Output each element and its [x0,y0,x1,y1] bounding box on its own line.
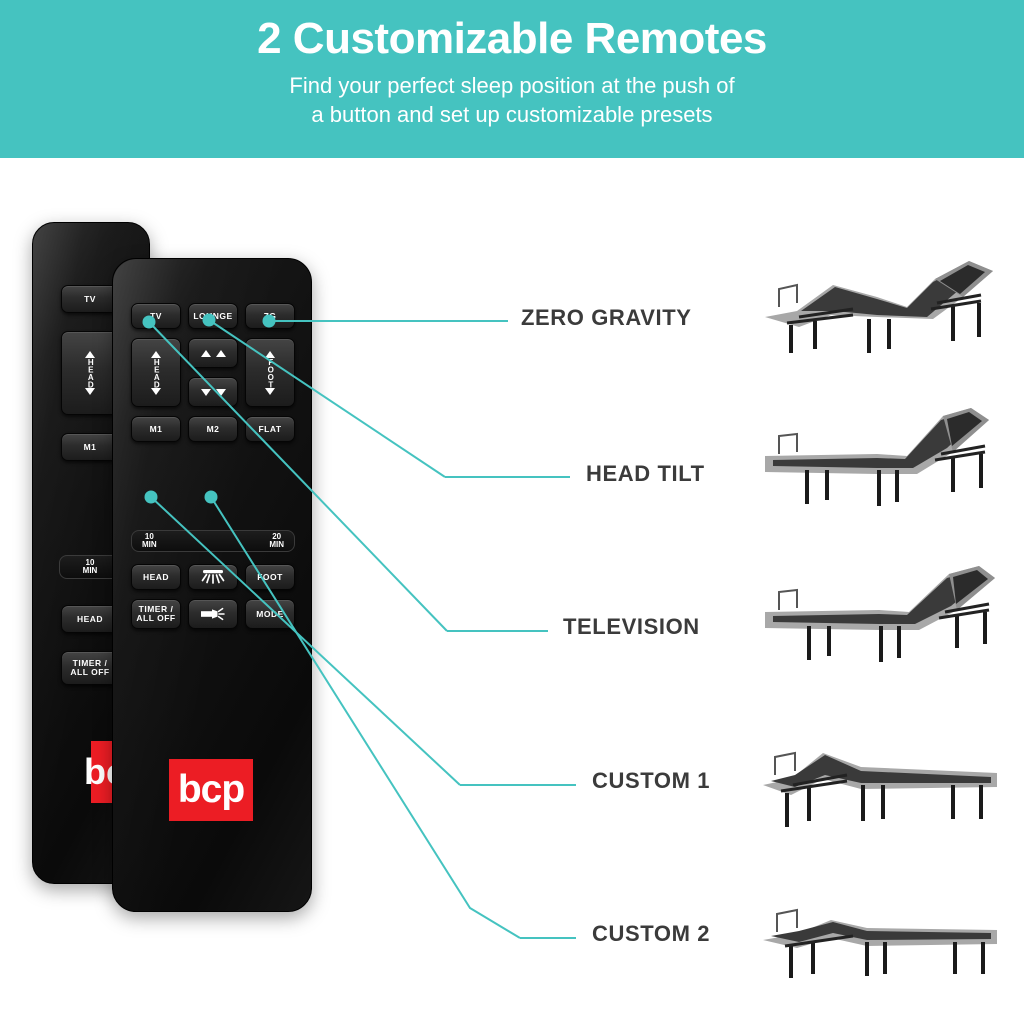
key-row: TIMER / ALL OFF [61,651,119,685]
bed-legs [791,942,983,978]
key-flat[interactable]: FLAT [245,416,295,442]
key-both-down[interactable] [188,377,238,407]
page-subtitle: Find your perfect sleep position at the … [289,71,734,129]
bcp-logo-front: bcp [169,759,253,821]
timer-all-off-line-2: ALL OFF [70,668,109,677]
triangle-up-icon [265,351,275,358]
key-head-updown[interactable]: HEAD [131,338,181,407]
simple-remote-keypad: TV HEAD M1 [61,285,119,479]
key-zg[interactable]: ZG [245,303,295,329]
key-row: HEAD [61,331,119,415]
headboard-bracket-icon [775,753,795,775]
timer-all-off-line-2: ALL OFF [136,614,175,623]
headboard-bracket-icon [779,434,797,454]
triangle-up-icon [85,351,95,358]
key-timer-all-off[interactable]: TIMER / ALL OFF [131,599,181,629]
triangle-up-icon [151,351,161,358]
callout-label-custom-1: CUSTOM 1 [592,768,710,794]
key-m1[interactable]: M1 [61,433,119,461]
timer-10-unit: MIN [83,567,98,575]
key-both-up[interactable] [188,338,238,368]
callout-label-television: TELEVISION [563,614,700,640]
key-foot-label: FOOT [267,358,274,388]
callout-label-zero-gravity: ZERO GRAVITY [521,305,692,331]
timer-10[interactable]: 10 MIN [142,533,157,549]
key-head-updown[interactable]: HEAD [61,331,119,415]
full-remote-keypad-bottom: HEAD FOOT [131,564,295,638]
key-foot-updown[interactable]: FOOT [245,338,295,407]
key-row-motion: HEAD [131,338,295,407]
bed-head-tilt [757,398,1007,518]
key-tv[interactable]: TV [131,303,181,329]
bed-frame [765,566,995,630]
key-m1[interactable]: M1 [131,416,181,442]
key-col-both [188,338,238,407]
timer-bar[interactable]: 10 MIN 20 MIN [131,530,295,552]
key-lounge[interactable]: LOUNGE [188,303,238,329]
key-head-label: HEAD [87,358,94,388]
callout-label-head-tilt: HEAD TILT [586,461,705,487]
bed-custom-1 [757,723,1007,843]
key-head-label: HEAD [153,358,160,388]
headboard-bracket-icon [779,285,797,307]
key-row-massage: HEAD FOOT [131,564,295,590]
headboard-bracket-icon [779,590,797,610]
double-down-arrow-icon [201,389,226,396]
key-timer-all-off[interactable]: TIMER / ALL OFF [61,651,119,685]
subtitle-line-1: Find your perfect sleep position at the … [289,71,734,100]
bed-zero-gravity [757,245,1007,365]
header-banner: 2 Customizable Remotes Find your perfect… [0,0,1024,158]
key-head-massage[interactable]: HEAD [131,564,181,590]
key-row-memory: M1 M2 FLAT [131,416,295,442]
double-up-arrow-icon [201,350,226,357]
key-flashlight[interactable] [188,599,238,629]
callout-label-custom-2: CUSTOM 2 [592,921,710,947]
bcp-logo-text: bcp [178,768,244,812]
headboard-bracket-icon [777,910,797,932]
key-row: HEAD [61,605,119,633]
key-foot-massage[interactable]: FOOT [245,564,295,590]
timer-20-unit: MIN [269,541,284,549]
bed-television [757,552,1007,672]
timer-10-unit: MIN [142,541,157,549]
triangle-down-icon [151,388,161,395]
full-remote[interactable]: TV LOUNGE ZG HEAD [112,258,312,912]
key-row: TV [61,285,119,313]
key-head-massage[interactable]: HEAD [61,605,119,633]
key-row-utility: TIMER / ALL OFF MODE [131,599,295,629]
simple-remote-keypad-lower: HEAD TIMER / ALL OFF [61,605,119,703]
triangle-down-icon [85,388,95,395]
bed-custom-2 [757,876,1007,996]
page-title: 2 Customizable Remotes [257,14,767,65]
massage-icon [199,568,227,586]
bed-frame [765,408,989,474]
triangle-down-icon [265,388,275,395]
key-mode[interactable]: MODE [245,599,295,629]
bed-legs [787,785,981,827]
key-tv[interactable]: TV [61,285,119,313]
infographic-page: 2 Customizable Remotes Find your perfect… [0,0,1024,1024]
flashlight-icon [198,606,228,622]
key-m2[interactable]: M2 [188,416,238,442]
subtitle-line-2: a button and set up customizable presets [289,100,734,129]
key-massage-intensity[interactable] [188,564,238,590]
key-row: M1 [61,433,119,461]
timer-20[interactable]: 20 MIN [269,533,284,549]
key-row-presets: TV LOUNGE ZG [131,303,295,329]
full-remote-keypad-top: TV LOUNGE ZG HEAD [131,303,295,451]
